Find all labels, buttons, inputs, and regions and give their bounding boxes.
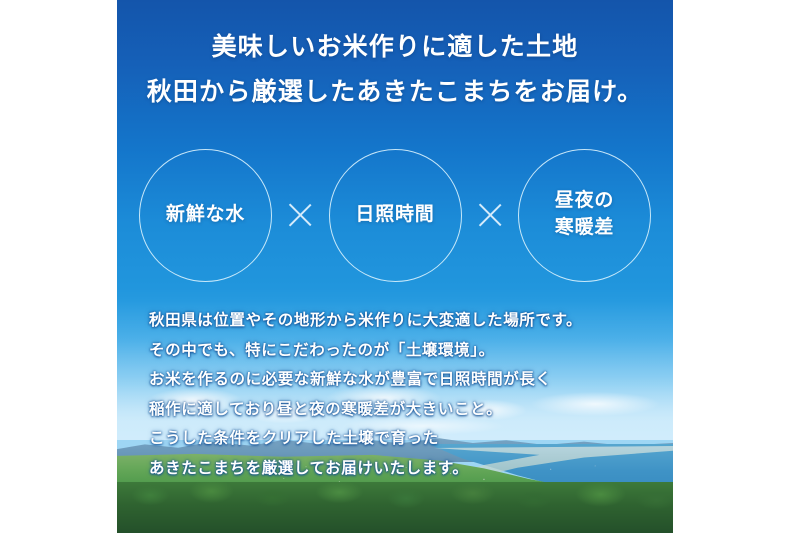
- body-line-4: 稲作に適しており昼と夜の寒暖差が大きいこと。: [149, 395, 649, 425]
- body-line-2: その中でも、特にこだわったのが「土壌環境」。: [149, 336, 649, 366]
- feature-circle-temperature-range: 昼夜の 寒暖差: [518, 149, 651, 282]
- landscape-forest-canopy: [117, 482, 673, 533]
- body-line-3: お米を作るのに必要な新鮮な水が豊富で日照時間が長く: [149, 365, 649, 395]
- body-line-5: こうした条件をクリアした土壌で育った: [149, 424, 649, 454]
- multiply-icon: [285, 200, 315, 230]
- feature-circle-row: 新鮮な水 日照時間 昼夜の 寒暖差: [139, 147, 651, 283]
- headline-line-2: 秋田から厳選したあきたこまちをお届け。: [117, 70, 673, 115]
- feature-label: 新鮮な水: [166, 202, 245, 229]
- feature-label: 日照時間: [355, 202, 434, 229]
- feature-circle-sunshine-hours: 日照時間: [329, 149, 462, 282]
- banner-body-copy: 秋田県は位置やその地形から米作りに大変適した場所です。 その中でも、特にこだわっ…: [149, 306, 649, 483]
- screenshot-canvas: 美味しいお米作りに適した土地 秋田から厳選したあきたこまちをお届け。 新鮮な水 …: [0, 0, 800, 533]
- body-line-6: あきたこまちを厳選してお届けいたします。: [149, 454, 649, 484]
- multiply-icon: [475, 200, 505, 230]
- feature-circle-fresh-water: 新鮮な水: [139, 149, 272, 282]
- feature-label: 昼夜の 寒暖差: [555, 188, 614, 242]
- body-line-1: 秋田県は位置やその地形から米作りに大変適した場所です。: [149, 306, 649, 336]
- headline-line-1: 美味しいお米作りに適した土地: [117, 25, 673, 70]
- banner-headline: 美味しいお米作りに適した土地 秋田から厳選したあきたこまちをお届け。: [117, 25, 673, 114]
- product-banner: 美味しいお米作りに適した土地 秋田から厳選したあきたこまちをお届け。 新鮮な水 …: [117, 0, 673, 533]
